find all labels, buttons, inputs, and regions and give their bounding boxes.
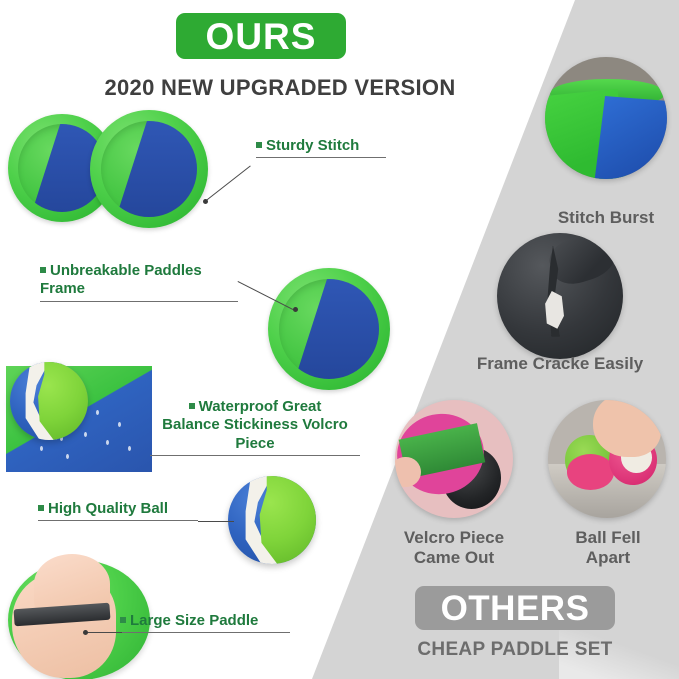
- defect-caption-stitch-burst: Stitch Burst: [516, 208, 679, 228]
- callout-waterproof-line1: Waterproof Great: [199, 398, 322, 415]
- leader-line-large-size-paddle: [86, 632, 122, 633]
- ours-subtitle: 2020 NEW UPGRADED VERSION: [0, 75, 560, 101]
- callout-large-size-paddle-label: Large Size Paddle: [130, 612, 258, 629]
- defect-photo-stitch-burst: [545, 57, 667, 179]
- callout-high-quality-ball-label: High Quality Ball: [48, 500, 168, 517]
- callout-underline: [256, 157, 386, 158]
- ball-green-face: [228, 476, 316, 564]
- hand-holding-balls: [593, 400, 661, 457]
- callout-waterproof-line2: Balance Stickiness Volcro Piece: [150, 416, 360, 453]
- paddle-velcro-surface: [279, 279, 379, 379]
- callout-underline: [40, 301, 238, 302]
- callout-sturdy-stitch: Sturdy Stitch: [256, 137, 386, 158]
- defect-caption-frame-cracke: Frame Cracke Easily: [450, 354, 670, 374]
- defect-photo-frame-cracke: [497, 233, 623, 359]
- product-comparison-infographic: OURS 2020 NEW UPGRADED VERSION: [0, 0, 679, 679]
- split-ball-pink-shell: [567, 454, 614, 489]
- leader-line-high-quality-ball: [198, 521, 234, 522]
- callout-underline: [120, 632, 290, 633]
- ball-green-face: [10, 362, 88, 440]
- defect-caption-ball-line2: Apart: [532, 548, 679, 568]
- leader-dot-unbreakable-frame: [293, 307, 298, 312]
- callout-underline: [38, 520, 198, 521]
- callout-unbreakable-frame: Unbreakable Paddles Frame: [40, 262, 238, 302]
- callout-high-quality-ball: High Quality Ball: [38, 500, 198, 521]
- callout-waterproof-velcro: Waterproof Great Balance Stickiness Volc…: [150, 398, 360, 456]
- ours-badge: OURS: [176, 13, 346, 59]
- paddle-velcro-surface: [101, 121, 198, 218]
- leader-dot-large-size-paddle: [83, 630, 88, 635]
- defect-caption-velcro-line2: Came Out: [378, 548, 530, 568]
- ours-badge-label: OURS: [206, 18, 317, 55]
- defect-caption-ball-line1: Ball Fell: [532, 528, 679, 548]
- leader-dot-sturdy-stitch: [203, 199, 208, 204]
- callout-underline: [150, 455, 360, 456]
- others-badge-label: OTHERS: [441, 591, 590, 626]
- leader-line-sturdy-stitch: [206, 166, 251, 201]
- defect-caption-velcro-came-out: Velcro Piece Came Out: [378, 528, 530, 568]
- defect-photo-velcro-came-out: [395, 400, 513, 518]
- callout-large-size-paddle: Large Size Paddle: [120, 612, 290, 633]
- defect-caption-ball-fell-apart: Ball Fell Apart: [532, 528, 679, 568]
- bullet-icon: [40, 267, 46, 273]
- bullet-icon: [120, 617, 126, 623]
- bullet-icon: [38, 505, 44, 511]
- others-subtitle: CHEAP PADDLE SET: [395, 639, 635, 661]
- callout-unbreakable-frame-label: Unbreakable Paddles Frame: [40, 262, 202, 297]
- others-badge: OTHERS: [415, 586, 615, 630]
- high-quality-ball-photo: [228, 476, 316, 564]
- callout-sturdy-stitch-label: Sturdy Stitch: [266, 137, 359, 154]
- paddle-rim: [101, 121, 198, 218]
- bullet-icon: [189, 403, 195, 409]
- defect-caption-velcro-line1: Velcro Piece: [378, 528, 530, 548]
- blue-velcro-fabric: [594, 96, 667, 179]
- paddle-photo-frame-detail: [268, 268, 390, 390]
- bullet-icon: [256, 142, 262, 148]
- paddle-photo-right: [90, 110, 208, 228]
- ball-photo-on-paddle: [10, 362, 88, 440]
- defect-photo-ball-fell-apart: [548, 400, 666, 518]
- frame-chip: [542, 291, 570, 329]
- paddle-rim: [279, 279, 379, 379]
